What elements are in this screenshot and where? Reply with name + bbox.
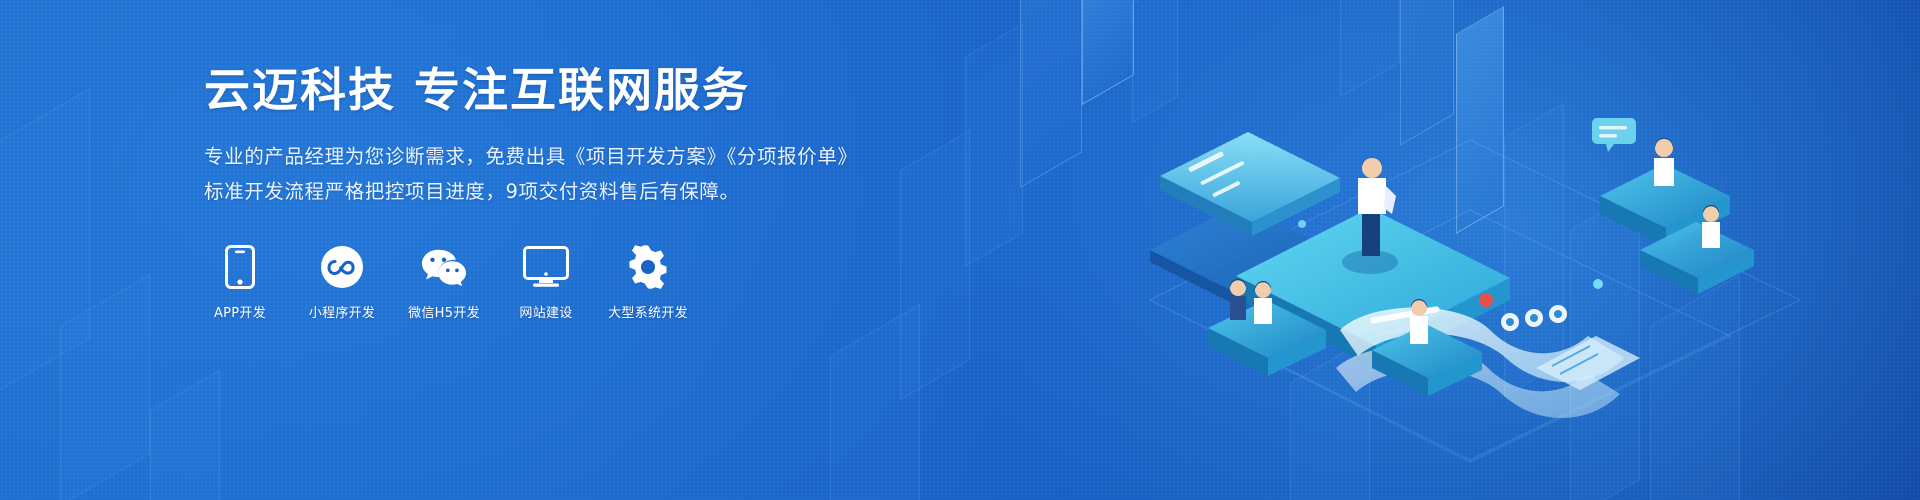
floating-ui-panel — [1536, 336, 1640, 390]
service-label: 大型系统开发 — [608, 302, 688, 321]
glow-dot — [1593, 279, 1603, 289]
service-item-app[interactable]: APP开发 — [204, 244, 276, 321]
banner-content: 云迈科技 专注互联网服务 专业的产品经理为您诊断需求，免费出具《项目开发方案》《… — [204, 62, 904, 321]
service-label: 微信H5开发 — [408, 302, 480, 321]
service-item-wechat[interactable]: 微信H5开发 — [408, 244, 480, 321]
gear-icon — [625, 244, 671, 290]
iso-block — [900, 130, 970, 400]
figure-standing — [1342, 156, 1398, 274]
iso-block — [150, 370, 220, 500]
banner-subtitle: 专业的产品经理为您诊断需求，免费出具《项目开发方案》《分项报价单》 标准开发流程… — [204, 140, 904, 209]
iso-block — [60, 274, 150, 500]
iso-block — [965, 23, 1023, 266]
service-list: APP开发 小程序开发 — [204, 244, 904, 321]
service-label: 网站建设 — [519, 302, 572, 321]
figure-standing-small — [1410, 299, 1428, 344]
service-item-miniprogram[interactable]: 小程序开发 — [306, 244, 378, 321]
figure-side — [1702, 205, 1720, 248]
service-item-system[interactable]: 大型系统开发 — [612, 244, 684, 321]
figure-sitting — [1654, 138, 1674, 186]
iso-block — [0, 88, 90, 402]
subtitle-line-2: 标准开发流程严格把控项目进度，9项交付资料售后有保障。 — [204, 175, 904, 210]
hero-banner: 云迈科技 专注互联网服务 专业的产品经理为您诊断需求，免费出具《项目开发方案》《… — [0, 0, 1920, 500]
chat-bubble — [1592, 118, 1636, 152]
isometric-illustration — [1040, 0, 1920, 500]
service-item-website[interactable]: 网站建设 — [510, 244, 582, 321]
mobile-phone-icon — [217, 244, 263, 290]
mini-program-icon — [319, 244, 365, 290]
iso-block — [830, 304, 920, 500]
glow-dot — [1298, 220, 1306, 228]
wechat-icon — [421, 244, 467, 290]
monitor-icon — [523, 244, 569, 290]
subtitle-line-1: 专业的产品经理为您诊断需求，免费出具《项目开发方案》《分项报价单》 — [204, 140, 904, 175]
service-label: 小程序开发 — [309, 302, 376, 321]
service-label: APP开发 — [214, 302, 266, 321]
page-title: 云迈科技 专注互联网服务 — [204, 62, 904, 118]
